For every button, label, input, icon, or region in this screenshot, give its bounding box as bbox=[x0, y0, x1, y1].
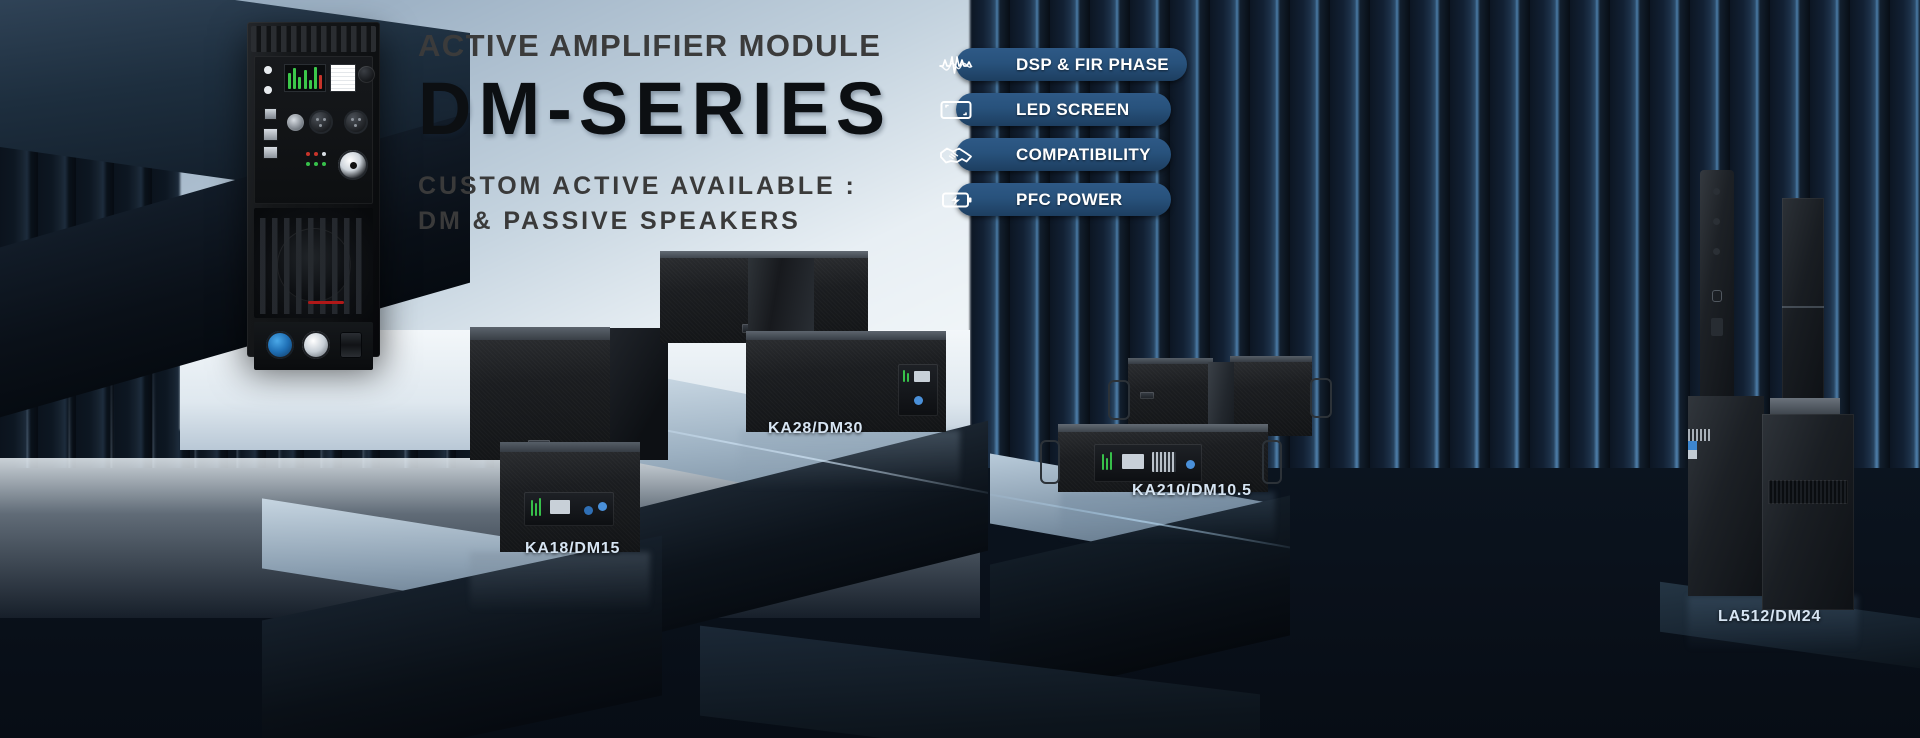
amp-signal-led bbox=[264, 66, 272, 74]
amp-led-clip bbox=[314, 152, 318, 156]
amp-led-c bbox=[322, 162, 326, 166]
amp-fan-grille bbox=[260, 218, 367, 314]
amp-led-signal bbox=[322, 152, 326, 156]
headline-subline-2: DM & PASSIVE SPEAKERS bbox=[418, 205, 938, 238]
badge-label: DSP & FIR PHASE bbox=[1016, 55, 1169, 75]
amp-control-knob bbox=[358, 66, 375, 83]
speaker-amp-panel bbox=[1688, 396, 1736, 454]
amp-led-a bbox=[306, 162, 310, 166]
amp-led-b bbox=[314, 162, 318, 166]
amp-connector-panel bbox=[254, 56, 373, 204]
speaker-amp-panel bbox=[898, 364, 938, 416]
rigging-bracket-right bbox=[1310, 378, 1332, 418]
amp-powercon-mains-in bbox=[266, 331, 294, 359]
amp-xlr-input bbox=[309, 110, 333, 134]
waveform-icon bbox=[930, 48, 982, 81]
badge-pill: PFC POWER bbox=[956, 183, 1171, 216]
feature-badge-pfc-power[interactable]: PFC POWER bbox=[930, 183, 982, 216]
product-label-text: LA512/DM24 bbox=[1718, 608, 1821, 625]
headline-subline-1: CUSTOM ACTIVE AVAILABLE : bbox=[418, 170, 938, 203]
column-array-a-sub bbox=[1688, 396, 1764, 596]
amp-led-protect bbox=[306, 152, 310, 156]
reflection-ka28 bbox=[740, 430, 960, 490]
headline-kicker: ACTIVE AMPLIFIER MODULE bbox=[418, 30, 938, 63]
badge-pill: COMPATIBILITY bbox=[956, 138, 1171, 171]
amp-fan-wire bbox=[308, 301, 344, 304]
amp-powercon-ac-link bbox=[302, 331, 330, 359]
feature-badge-compatibility[interactable]: COMPATIBILITY bbox=[930, 138, 982, 171]
rigging-bracket-left bbox=[1108, 380, 1130, 420]
badge-pill: DSP & FIR PHASE bbox=[956, 48, 1187, 81]
led-screen-icon bbox=[930, 93, 982, 126]
product-label-ka210: KA210/DM10.5 bbox=[1132, 482, 1252, 500]
product-label-text: KA28/DM30 bbox=[768, 420, 863, 437]
headline-title: DM-SERIES bbox=[418, 69, 938, 149]
brand-plate bbox=[1140, 392, 1154, 399]
amp-power-switch[interactable] bbox=[340, 332, 362, 358]
speaker-ka18-side-panel bbox=[610, 328, 668, 460]
rigging-handle-sub-right bbox=[1262, 440, 1282, 484]
promo-banner: ACTIVE AMPLIFIER MODULE DM-SERIES CUSTOM… bbox=[0, 0, 1920, 738]
amp-power-section bbox=[254, 322, 373, 370]
amp-rotary-switch bbox=[287, 114, 304, 131]
speaker-ka28-lower-box bbox=[746, 340, 946, 432]
amp-limit-led bbox=[264, 86, 272, 94]
column-array-b-sub bbox=[1762, 414, 1854, 610]
amplifier-module-product bbox=[247, 22, 380, 357]
feature-badge-led-screen[interactable]: LED SCREEN bbox=[930, 93, 982, 126]
product-label-ka18: KA18/DM15 bbox=[525, 540, 620, 558]
amp-preset-label bbox=[330, 64, 356, 92]
feature-badge-list: DSP & FIR PHASE LED SCREEN bbox=[930, 48, 982, 228]
amp-network-port-a bbox=[263, 128, 278, 141]
product-label-text: KA18/DM15 bbox=[525, 540, 620, 557]
product-label-text: KA210/DM10.5 bbox=[1132, 482, 1252, 499]
speaker-ka18-lower-box bbox=[500, 452, 640, 552]
handshake-icon bbox=[930, 138, 982, 171]
amp-xlr-link bbox=[344, 110, 368, 134]
column-array-b-top bbox=[1782, 198, 1824, 403]
amp-usb-port bbox=[264, 108, 277, 120]
rigging-handle-sub-left bbox=[1040, 440, 1060, 484]
badge-label: LED SCREEN bbox=[1016, 100, 1130, 120]
product-label-ka28: KA28/DM30 bbox=[768, 420, 863, 438]
amp-network-port-b bbox=[263, 146, 278, 159]
amp-fan-assembly bbox=[254, 208, 373, 318]
badge-label: PFC POWER bbox=[1016, 190, 1123, 210]
speaker-side bbox=[610, 328, 668, 460]
column-array-b-port bbox=[1768, 480, 1848, 504]
amp-led-meters bbox=[284, 64, 326, 92]
amp-heatsink-fins bbox=[251, 26, 376, 52]
product-label-la512: LA512/DM24 bbox=[1718, 608, 1821, 626]
feature-badge-dsp-fir-phase[interactable]: DSP & FIR PHASE bbox=[930, 48, 982, 81]
amp-speakon-output bbox=[338, 150, 368, 180]
battery-bolt-icon bbox=[930, 183, 982, 216]
column-array-a-connector bbox=[1712, 290, 1722, 302]
badge-pill: LED SCREEN bbox=[956, 93, 1171, 126]
badge-label: COMPATIBILITY bbox=[1016, 145, 1151, 165]
headline-block: ACTIVE AMPLIFIER MODULE DM-SERIES CUSTOM… bbox=[418, 30, 938, 238]
speaker-top-face bbox=[470, 327, 610, 341]
reflection-ka18 bbox=[470, 552, 650, 612]
speaker-amp-panel bbox=[524, 492, 614, 526]
column-array-a-top bbox=[1700, 170, 1734, 400]
speaker-amp-panel bbox=[1094, 444, 1202, 482]
